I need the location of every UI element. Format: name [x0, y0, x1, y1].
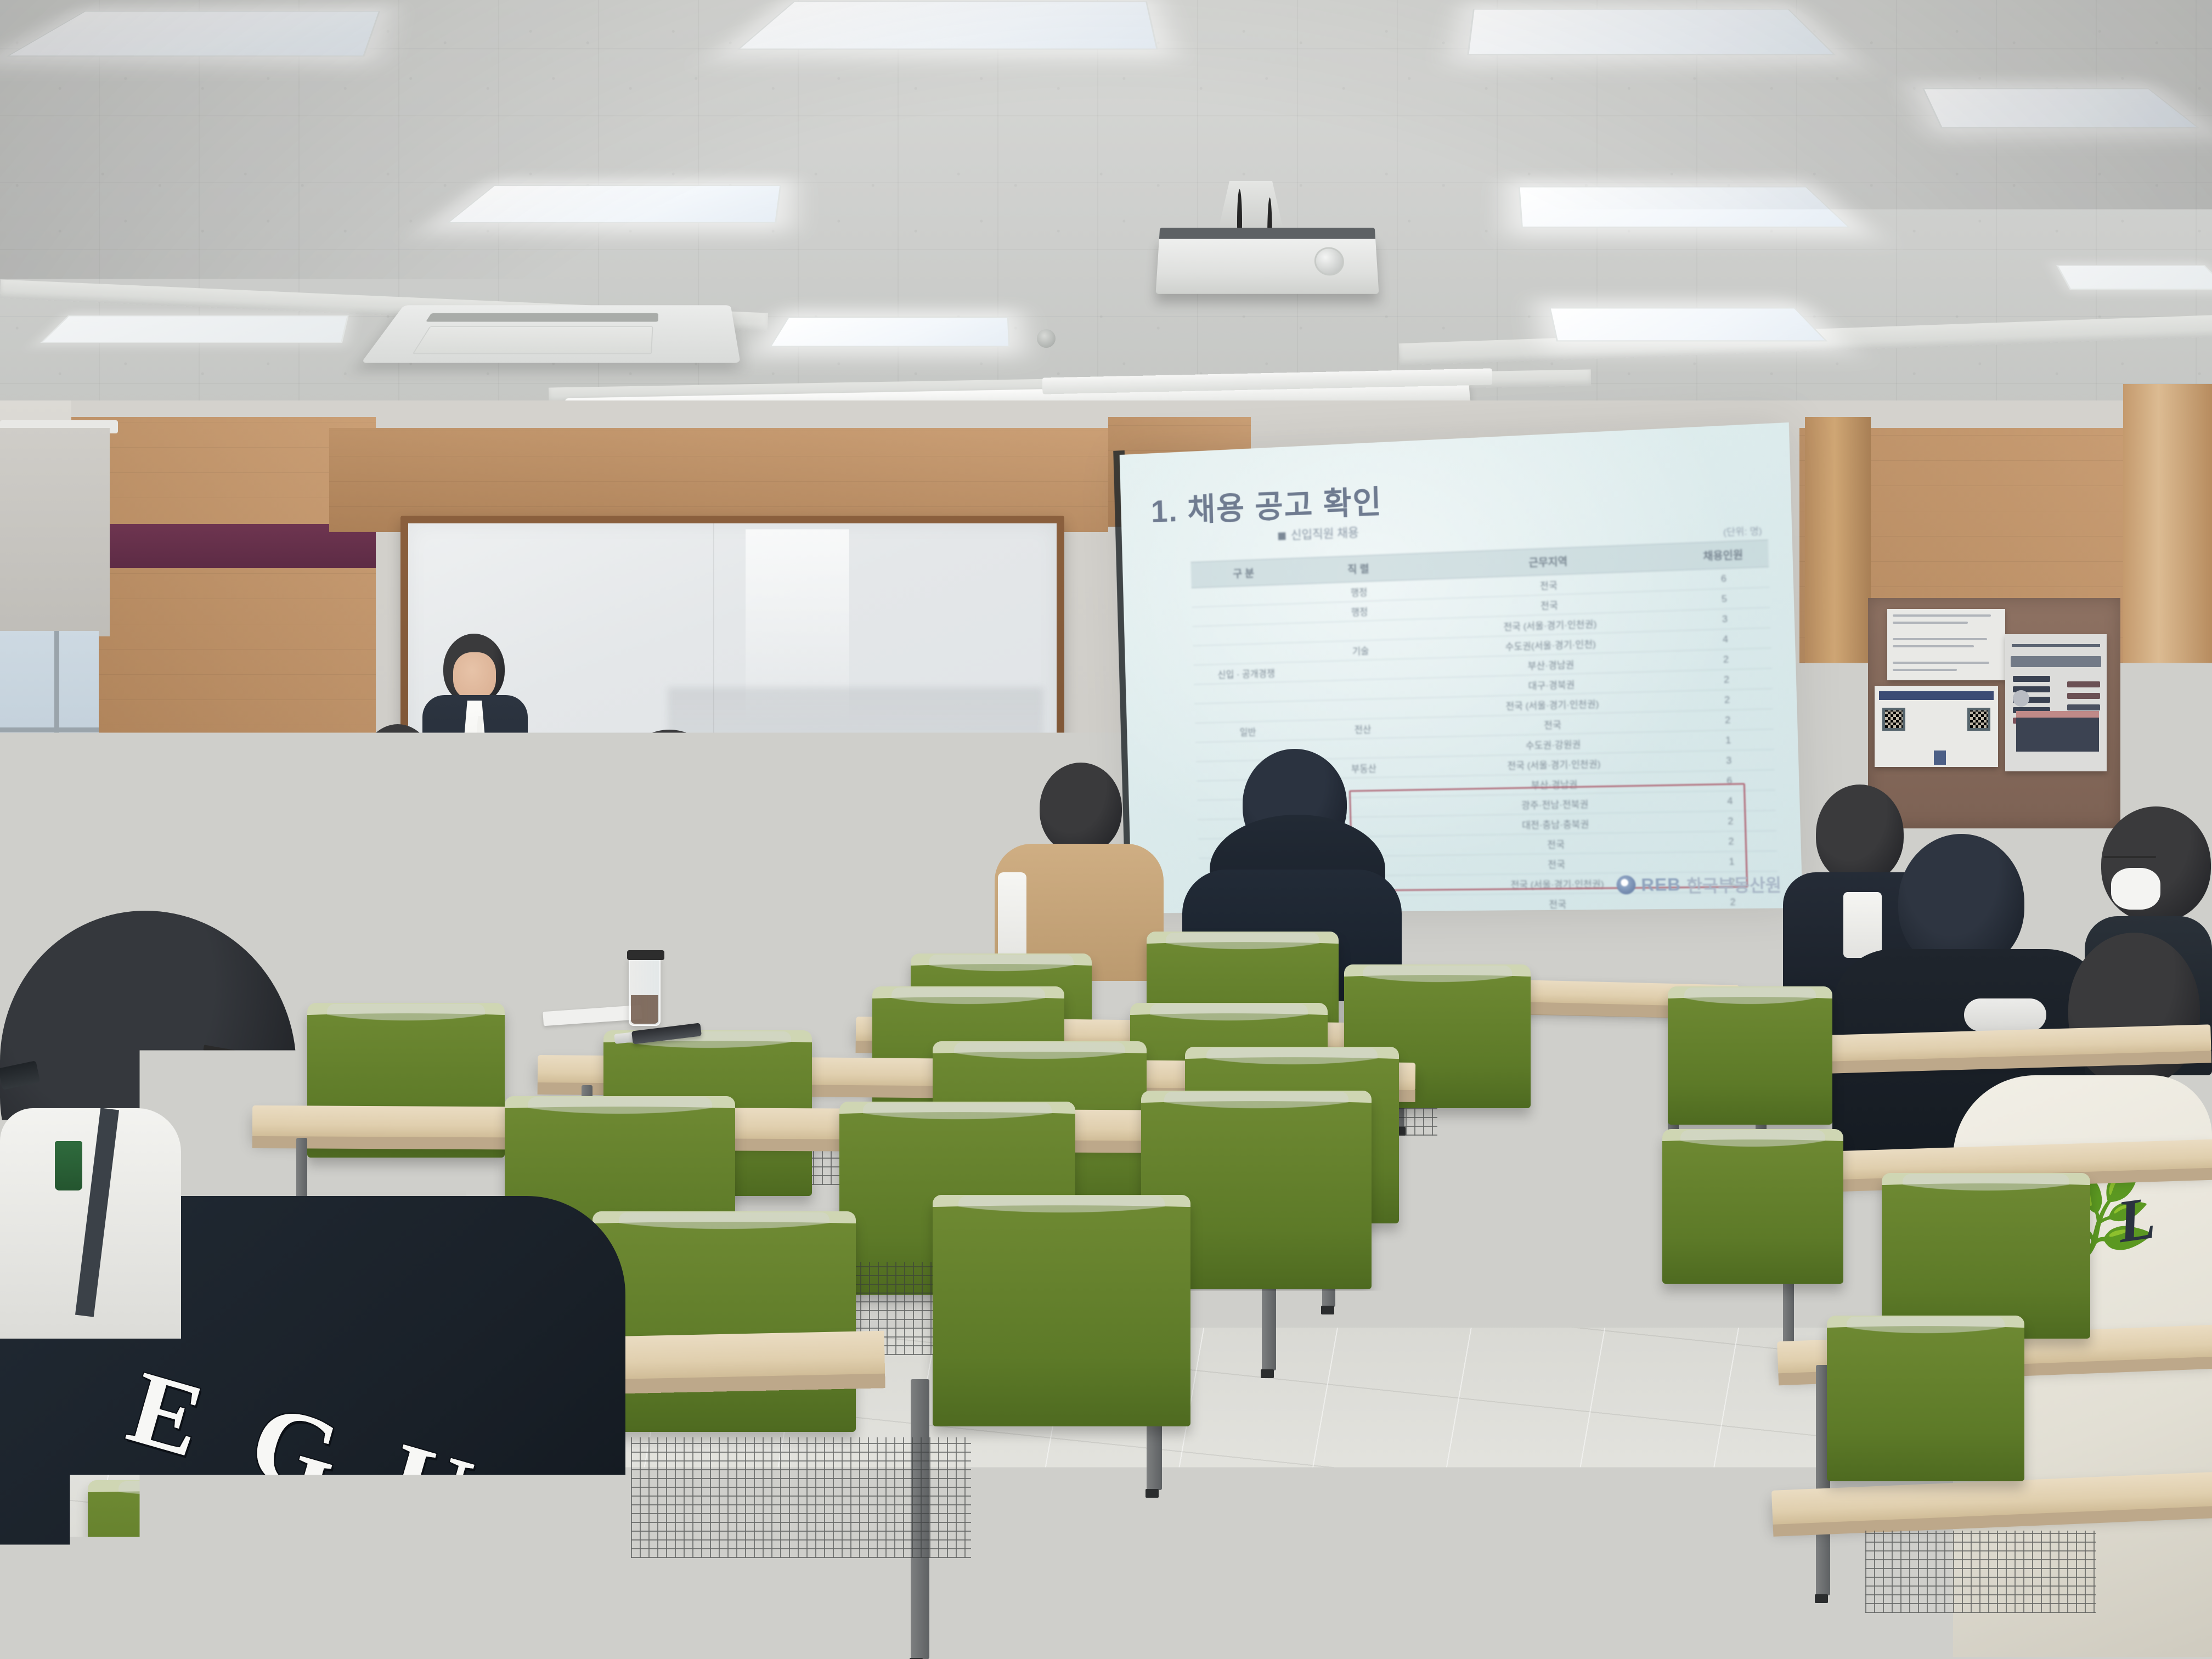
slide-table-cell — [1194, 701, 1300, 723]
slide-table-cell: 신입 · 공개경쟁 — [1194, 662, 1300, 685]
slide-table-cell: 2 — [1681, 668, 1773, 691]
slide-unit-note: (단위: 명) — [1723, 523, 1762, 538]
ceiling-light-4 — [1467, 9, 1836, 55]
slide-table-cell: 2 — [1681, 648, 1772, 671]
face-mask-icon — [2111, 868, 2160, 910]
square-bullet-icon — [1278, 532, 1286, 540]
iced-coffee-cup[interactable] — [629, 956, 661, 1026]
air-conditioner-vent — [361, 305, 740, 363]
chair[interactable] — [933, 1196, 1190, 1426]
ceiling-light-2 — [447, 185, 781, 223]
slide-table-cell: 4 — [1680, 628, 1771, 651]
slide-table-cell — [1194, 681, 1300, 704]
whiteboard-marker-2[interactable] — [779, 839, 819, 846]
projector-lens — [1314, 247, 1345, 276]
snack-bag[interactable] — [1795, 1122, 1859, 1169]
student-windbreaker-collar — [1964, 998, 2046, 1031]
coffee-liquid — [631, 995, 658, 1024]
slide-table-cell: 2 — [1683, 709, 1774, 731]
slide-table-cell: 3 — [1679, 607, 1770, 630]
ceiling-light-7 — [769, 317, 1010, 347]
slide-table-header-1: 구 분 — [1190, 558, 1296, 588]
shoe — [1662, 1180, 1728, 1208]
window-roller-blind[interactable] — [0, 428, 110, 636]
qr-code-icon-right — [1967, 708, 1990, 731]
presenter-face — [453, 652, 496, 699]
ceiling-light-10 — [2056, 265, 2212, 290]
qr-code-icon-left — [1882, 708, 1905, 731]
slide-table-cell — [1193, 623, 1299, 646]
logo-name: 한국부동산원 — [1686, 871, 1782, 897]
slide-table-cell: 전산 — [1301, 718, 1426, 740]
slide-table-cell — [1300, 678, 1425, 701]
slide-table-cell: 6 — [1678, 567, 1769, 590]
classroom-photo: 1. 채용 공고 확인 신입직원 채용 (단위: 명) 구 분직 렬근무지역채용… — [0, 0, 2212, 1659]
chair[interactable] — [1882, 1174, 2090, 1339]
slide-table-cell: 5 — [1679, 587, 1770, 610]
qr-poster — [1875, 686, 1998, 767]
slide-table-cell — [1193, 642, 1299, 665]
slide-subtitle: 신입직원 채용 — [1278, 523, 1359, 544]
glasses-icon-left — [50, 801, 94, 803]
slide-subtitle-text: 신입직원 채용 — [1291, 526, 1359, 542]
glasses-icon — [2103, 856, 2156, 858]
poster-emblem-icon — [1934, 751, 1946, 765]
ceiling-light-3 — [737, 1, 1158, 49]
green-bottle[interactable] — [55, 1141, 82, 1190]
poster-seal-icon — [2013, 690, 2029, 707]
flipchart-board[interactable] — [122, 783, 338, 918]
slide-table-header-4: 채용인원 — [1678, 540, 1769, 570]
desk-basket — [1865, 1531, 2096, 1613]
window-mullion-horizontal — [0, 727, 99, 732]
projector — [1156, 235, 1379, 294]
event-poster — [2005, 634, 2107, 771]
slide-table-cell: 3 — [1684, 749, 1775, 771]
reb-circle-logo-icon — [1616, 876, 1636, 895]
ceiling-light-8 — [40, 315, 348, 343]
poster-chart-graphic — [2016, 711, 2099, 752]
coffee-cup-lid — [627, 950, 664, 960]
slide-table-cell: 2 — [1682, 689, 1773, 711]
slide-footer-logo: REB 한국부동산원 — [1616, 871, 1782, 898]
slide-table-header-2: 직 렬 — [1296, 554, 1421, 584]
sprinkler-head — [1037, 329, 1056, 348]
chair[interactable] — [1668, 988, 1832, 1125]
student-camel-vest — [985, 763, 1171, 971]
desk-basket — [631, 1437, 971, 1558]
slide-table-cell: 1 — [1683, 729, 1774, 751]
ceiling-light-6 — [1549, 308, 1828, 342]
logo-abbr: REB — [1641, 874, 1681, 895]
slide-table-cell: 일반 — [1195, 720, 1301, 742]
slide-table-cell — [1300, 698, 1425, 720]
ceiling-light-5 — [1519, 187, 1850, 228]
chair[interactable] — [1827, 1317, 2024, 1481]
notice-poster — [1887, 609, 2005, 680]
